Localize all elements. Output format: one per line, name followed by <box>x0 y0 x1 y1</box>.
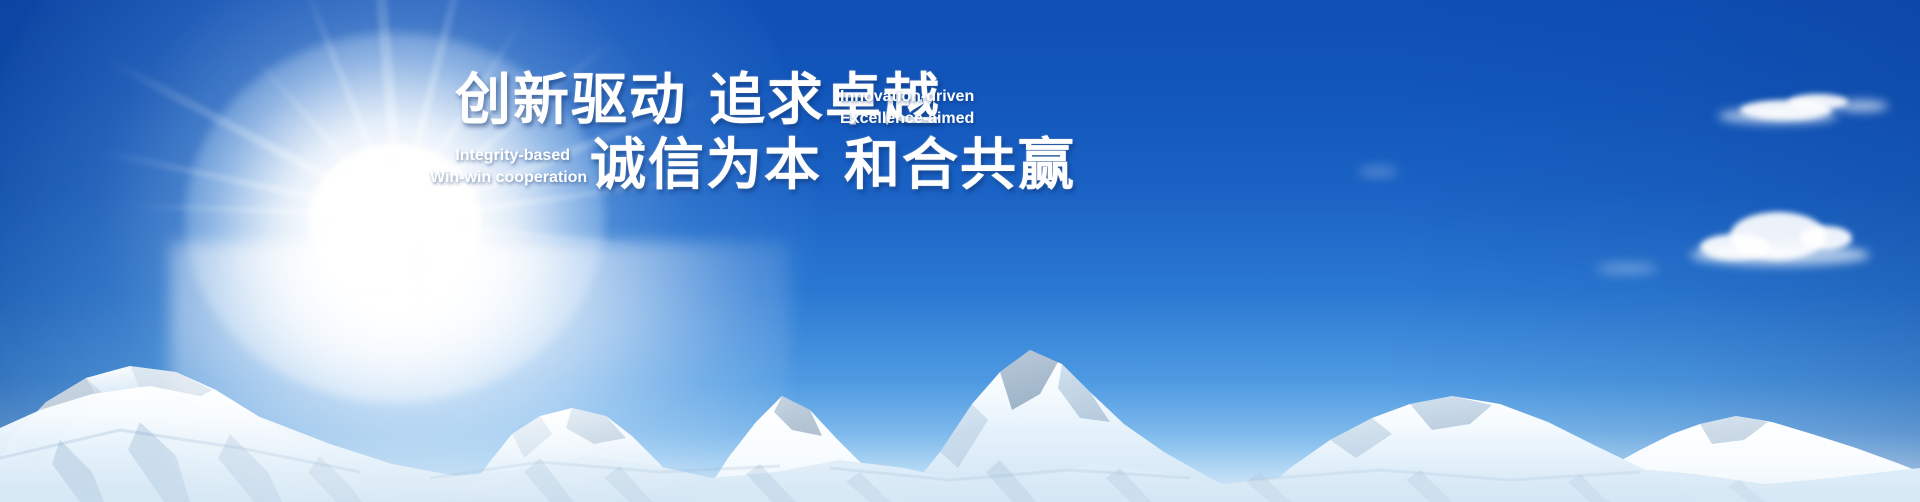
hero-banner: 创新驱动追求卓越 诚信为本和合共赢 Innovation-driven Exce… <box>0 0 1920 502</box>
mountain-range <box>0 172 1920 502</box>
